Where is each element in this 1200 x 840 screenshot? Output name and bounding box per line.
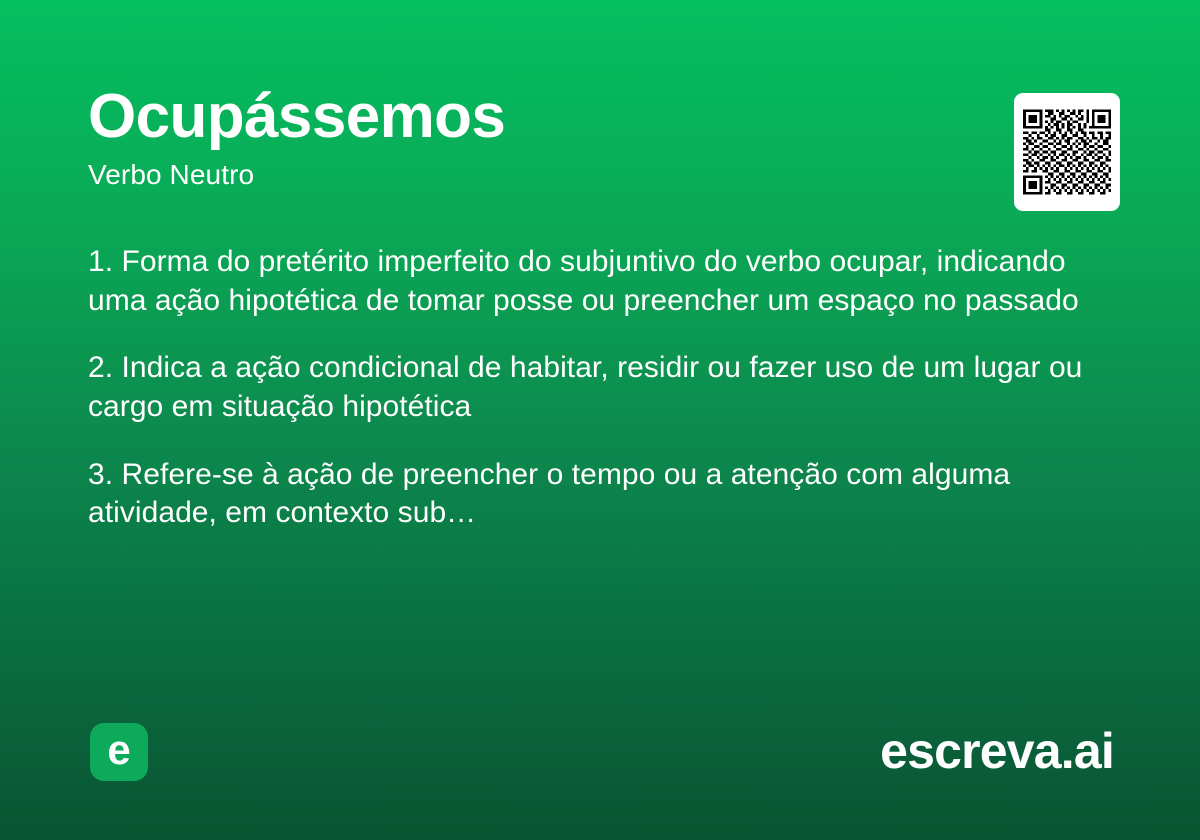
card-header: Ocupássemos Verbo Neutro — [88, 84, 968, 191]
definition-card: Ocupássemos Verbo Neutro 1. Forma do pre… — [0, 0, 1200, 840]
logo-letter: e — [107, 729, 130, 771]
qr-code-icon — [1023, 108, 1111, 196]
qr-code[interactable] — [1014, 93, 1120, 211]
word-class-label: Verbo Neutro — [88, 158, 968, 192]
definition-item: 2. Indica a ação condicional de habitar,… — [88, 349, 1094, 426]
page-title: Ocupássemos — [88, 84, 968, 150]
escreva-logo-icon[interactable]: e — [90, 723, 148, 781]
definition-list: 1. Forma do pretérito imperfeito do subj… — [88, 243, 1094, 533]
definition-item: 1. Forma do pretérito imperfeito do subj… — [88, 243, 1094, 320]
definition-item: 3. Refere-se à ação de preencher o tempo… — [88, 456, 1094, 533]
brand-wordmark: escreva.ai — [880, 721, 1114, 781]
